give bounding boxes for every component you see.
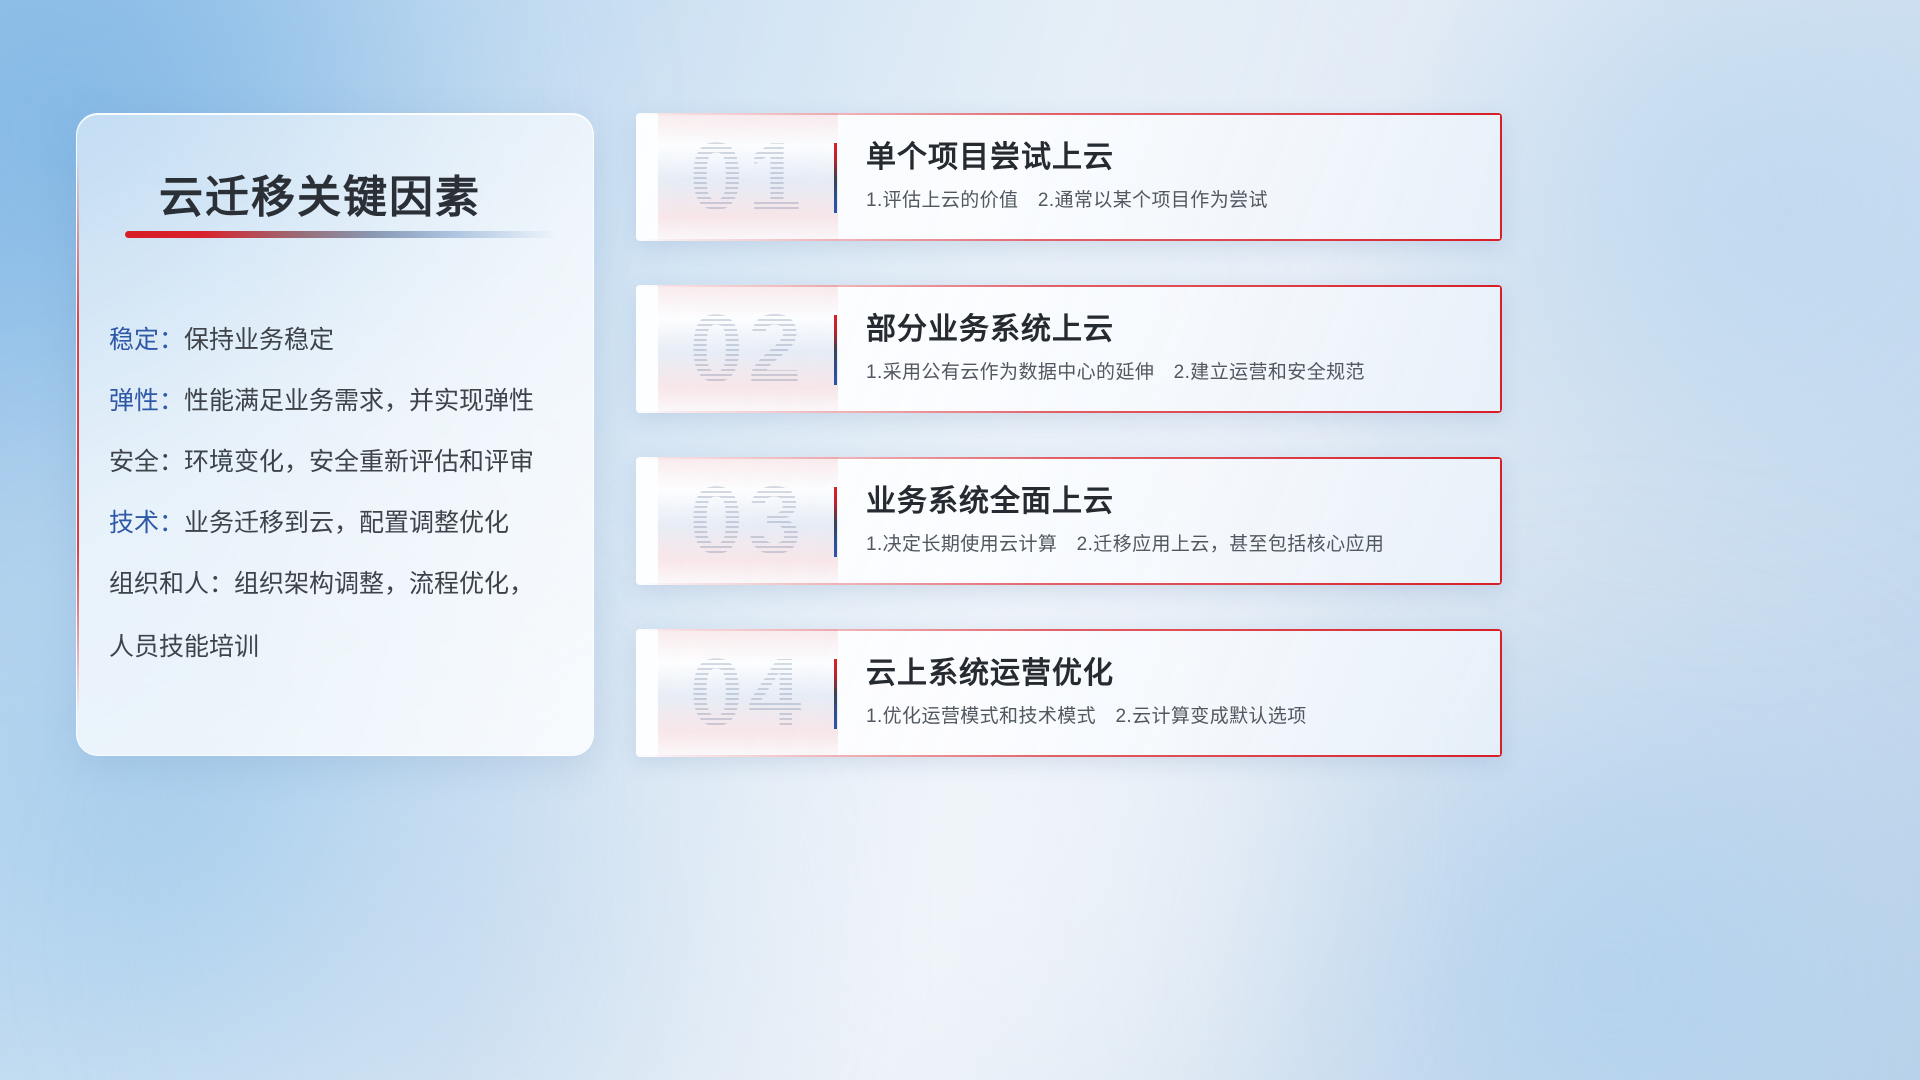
card-body: 业务系统全面上云 1.决定长期使用云计算 2.迁移应用上云，甚至包括核心应用 (866, 481, 1472, 558)
key-factors-list: 稳定：保持业务稳定 弹性：性能满足业务需求，并实现弹性 安全：环境变化，安全重新… (109, 310, 573, 678)
list-item-continuation: 人员技能培训 (109, 617, 573, 678)
card-right-accent (1500, 113, 1502, 241)
panel-left-accent-bar (77, 154, 79, 715)
card-body: 单个项目尝试上云 1.评估上云的价值 2.通常以某个项目作为尝试 (866, 137, 1472, 214)
card-body: 云上系统运营优化 1.优化运营模式和技术模式 2.云计算变成默认选项 (866, 653, 1472, 730)
list-item-text: 性能满足业务需求，并实现弹性 (184, 387, 534, 415)
page-title: 云迁移关键因素 (159, 161, 481, 225)
list-item-text: 保持业务稳定 (184, 326, 334, 354)
card-title: 业务系统全面上云 (866, 481, 1472, 523)
list-item-key: 稳定： (109, 326, 184, 354)
card-subtitle: 1.优化运营模式和技术模式 2.云计算变成默认选项 (866, 704, 1472, 730)
list-item-key: 安全： (109, 448, 184, 476)
list-item: 技术：业务迁移到云，配置调整优化 (109, 493, 573, 554)
stage-card-04[interactable]: 04 云上系统运营优化 1.优化运营模式和技术模式 2.云计算变成默认选项 (636, 629, 1502, 757)
key-factors-panel: 云迁移关键因素 稳定：保持业务稳定 弹性：性能满足业务需求，并实现弹性 安全：环… (76, 113, 594, 756)
card-number-watermark: 03 (658, 457, 838, 585)
title-underline-gradient (125, 231, 555, 238)
card-number-watermark: 02 (658, 285, 838, 413)
list-item: 组织和人：组织架构调整，流程优化， (109, 554, 573, 615)
card-number-watermark: 04 (658, 629, 838, 757)
card-title: 云上系统运营优化 (866, 653, 1472, 695)
card-title: 部分业务系统上云 (866, 309, 1472, 351)
card-divider-bar (834, 315, 837, 385)
list-item-key: 组织和人： (109, 570, 234, 598)
list-item-text: 业务迁移到云，配置调整优化 (184, 509, 509, 537)
card-right-accent (1500, 285, 1502, 413)
slide-stage: 云迁移关键因素 稳定：保持业务稳定 弹性：性能满足业务需求，并实现弹性 安全：环… (0, 0, 1920, 1080)
list-item: 弹性：性能满足业务需求，并实现弹性 (109, 371, 573, 432)
stage-card-02[interactable]: 02 部分业务系统上云 1.采用公有云作为数据中心的延伸 2.建立运营和安全规范 (636, 285, 1502, 413)
list-item-text: 环境变化，安全重新评估和评审 (184, 448, 534, 476)
card-divider-bar (834, 143, 837, 213)
card-divider-bar (834, 487, 837, 557)
list-item-key: 技术： (109, 509, 184, 537)
card-right-accent (1500, 629, 1502, 757)
list-item-key: 弹性： (109, 387, 184, 415)
card-divider-bar (834, 659, 837, 729)
card-subtitle: 1.采用公有云作为数据中心的延伸 2.建立运营和安全规范 (866, 360, 1472, 386)
card-right-accent (1500, 457, 1502, 585)
stage-card-01[interactable]: 01 单个项目尝试上云 1.评估上云的价值 2.通常以某个项目作为尝试 (636, 113, 1502, 241)
stage-card-03[interactable]: 03 业务系统全面上云 1.决定长期使用云计算 2.迁移应用上云，甚至包括核心应… (636, 457, 1502, 585)
card-subtitle: 1.决定长期使用云计算 2.迁移应用上云，甚至包括核心应用 (866, 532, 1472, 558)
card-body: 部分业务系统上云 1.采用公有云作为数据中心的延伸 2.建立运营和安全规范 (866, 309, 1472, 386)
list-item-text: 组织架构调整，流程优化， (234, 570, 534, 598)
list-item: 稳定：保持业务稳定 (109, 310, 573, 371)
list-item: 安全：环境变化，安全重新评估和评审 (109, 432, 573, 493)
card-subtitle: 1.评估上云的价值 2.通常以某个项目作为尝试 (866, 188, 1472, 214)
card-number-watermark: 01 (658, 113, 838, 241)
card-title: 单个项目尝试上云 (866, 137, 1472, 179)
